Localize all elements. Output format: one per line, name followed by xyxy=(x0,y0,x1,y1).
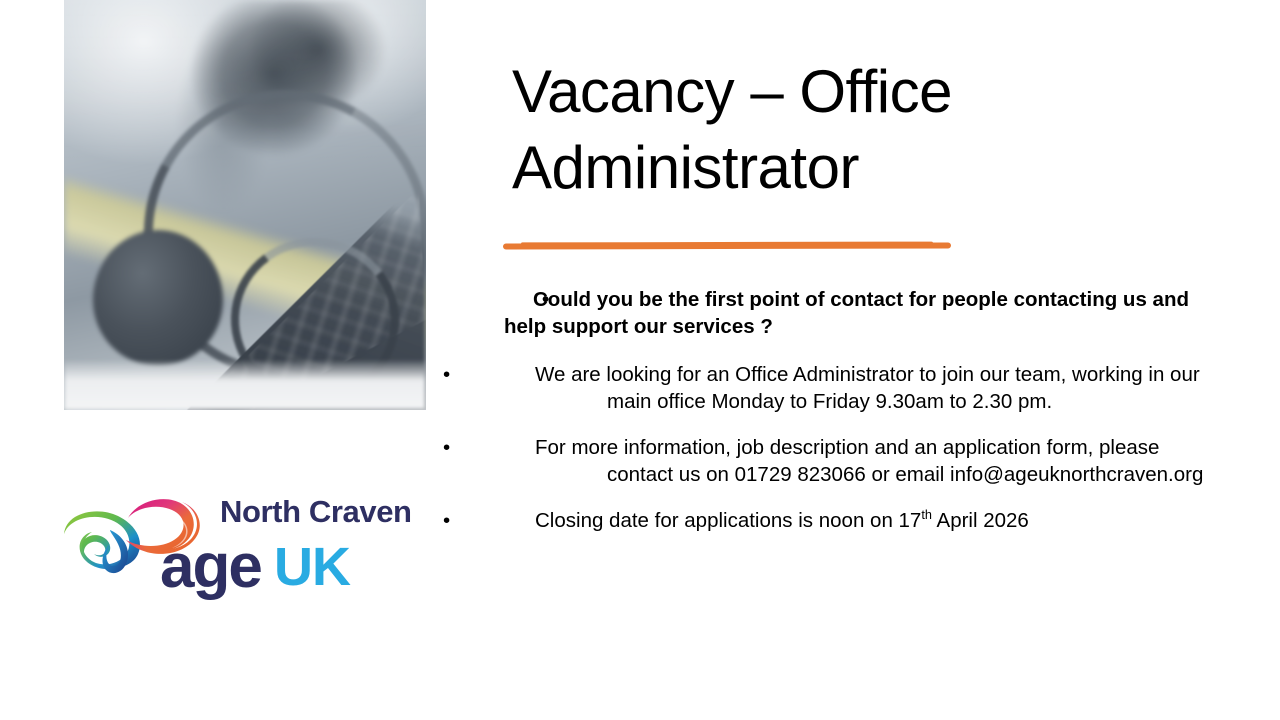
slide-canvas: North Craven age UK Vacancy – Office Adm… xyxy=(0,0,1280,720)
bullet-glyph-icon: • xyxy=(513,286,549,313)
photo-blur-overlay xyxy=(64,0,426,410)
age-uk-north-craven-logo: North Craven age UK xyxy=(52,478,432,603)
closing-date-item: • Closing date for applications is noon … xyxy=(504,507,1204,534)
logo-age-text: age xyxy=(160,532,261,601)
page-title: Vacancy – Office Administrator xyxy=(512,54,1032,206)
list-item-text: We are looking for an Office Administrat… xyxy=(535,363,1200,413)
page-title-line-2: Administrator xyxy=(512,130,1032,206)
lead-bullet-text: Could you be the first point of contact … xyxy=(504,288,1189,338)
closing-date-prefix: Closing date for applications is noon on… xyxy=(535,509,921,532)
logo-uk-text: UK xyxy=(274,537,351,597)
logo-north-craven-text: North Craven xyxy=(220,494,412,529)
body-content: • Could you be the first point of contac… xyxy=(504,286,1204,534)
accent-divider xyxy=(503,243,951,250)
closing-date-suffix: April 2026 xyxy=(932,509,1029,532)
page-title-line-1: Vacancy – Office xyxy=(512,54,1032,130)
list-item-text: For more information, job description an… xyxy=(535,436,1203,486)
office-telephone-headset-photo xyxy=(64,0,426,410)
list-item: • We are looking for an Office Administr… xyxy=(504,361,1204,416)
closing-date-ordinal: th xyxy=(921,507,932,522)
list-item: • For more information, job description … xyxy=(504,434,1204,489)
lead-bullet: • Could you be the first point of contac… xyxy=(504,286,1204,341)
